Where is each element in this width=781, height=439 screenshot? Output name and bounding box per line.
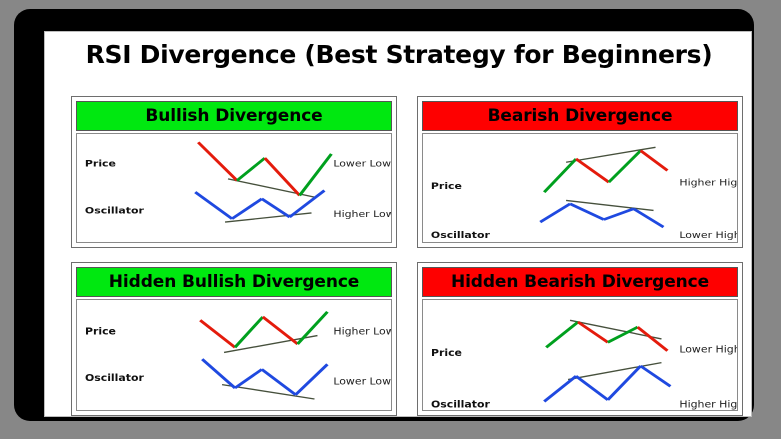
series-oscillator-segment	[232, 199, 262, 219]
panel-bullish-divergence[interactable]: Bullish Divergence PriceOscillatorLower …	[71, 96, 397, 248]
price-label: Price	[85, 159, 116, 169]
series-oscillator-segment	[235, 369, 262, 388]
series-oscillator-segment	[576, 376, 608, 400]
series-oscillator-segment	[604, 209, 634, 220]
panel-chart: PriceOscillatorHigher HighLower High	[422, 133, 738, 243]
price-note: Lower Low	[333, 159, 391, 169]
price-label: Price	[431, 349, 462, 359]
series-price-segment	[237, 158, 265, 180]
series-price-segment	[576, 159, 609, 182]
panel-hidden-bullish-divergence[interactable]: Hidden Bullish Divergence PriceOscillato…	[71, 262, 397, 416]
panel-header: Hidden Bearish Divergence	[422, 267, 738, 297]
panel-bearish-divergence[interactable]: Bearish Divergence PriceOscillatorHigher…	[417, 96, 743, 248]
series-oscillator-segment	[570, 204, 604, 220]
panel-chart: PriceOscillatorHigher LowLower Low	[76, 299, 392, 411]
panel-title: Hidden Bullish Divergence	[109, 272, 359, 292]
series-price-segment	[609, 151, 641, 183]
series-price-segment	[546, 322, 578, 347]
content-card: RSI Divergence (Best Strategy for Beginn…	[44, 31, 752, 417]
slide-root: RSI Divergence (Best Strategy for Beginn…	[0, 0, 781, 439]
oscillator-note: Lower Low	[333, 377, 391, 387]
panel-header: Hidden Bullish Divergence	[76, 267, 392, 297]
panel-title: Bearish Divergence	[488, 106, 673, 126]
series-oscillator-segment	[641, 366, 671, 386]
series-oscillator-segment	[262, 199, 290, 217]
oscillator-label: Oscillator	[431, 400, 490, 410]
outer-frame: RSI Divergence (Best Strategy for Beginn…	[14, 9, 754, 421]
price-note: Higher High	[679, 178, 737, 188]
price-note: Higher Low	[333, 327, 391, 337]
price-label: Price	[85, 327, 116, 337]
panel-title: Hidden Bearish Divergence	[451, 272, 709, 292]
panel-hidden-bearish-divergence[interactable]: Hidden Bearish Divergence PriceOscillato…	[417, 262, 743, 416]
panel-header: Bearish Divergence	[422, 101, 738, 131]
series-oscillator-segment	[540, 204, 570, 222]
series-price-segment	[198, 142, 237, 180]
series-price-segment	[298, 312, 328, 344]
series-price-segment	[200, 320, 235, 347]
series-price-segment	[235, 317, 263, 347]
oscillator-note: Lower High	[679, 231, 737, 241]
panel-chart: PriceOscillatorLower HighHigher High	[422, 299, 738, 411]
oscillator-note: Higher Low	[333, 210, 391, 220]
oscillator-label: Oscillator	[85, 206, 144, 216]
series-price-segment	[263, 317, 298, 344]
panel-header: Bullish Divergence	[76, 101, 392, 131]
series-oscillator-segment	[296, 364, 328, 394]
panel-title: Bullish Divergence	[145, 106, 322, 126]
panel-chart: PriceOscillatorLower LowHigher Low	[76, 133, 392, 243]
price-label: Price	[431, 182, 462, 192]
series-price-segment	[300, 154, 332, 196]
series-price-segment	[544, 159, 576, 192]
series-oscillator-segment	[544, 376, 576, 401]
series-price-segment	[641, 151, 668, 171]
series-oscillator-segment	[202, 359, 235, 388]
page-title: RSI Divergence (Best Strategy for Beginn…	[45, 40, 753, 69]
price-note: Lower High	[679, 345, 737, 355]
series-oscillator-segment	[634, 209, 664, 227]
oscillator-label: Oscillator	[431, 231, 490, 241]
oscillator-label: Oscillator	[85, 374, 144, 384]
series-oscillator-segment	[195, 192, 232, 219]
oscillator-note: Higher High	[679, 400, 737, 410]
series-price-segment	[638, 327, 668, 351]
